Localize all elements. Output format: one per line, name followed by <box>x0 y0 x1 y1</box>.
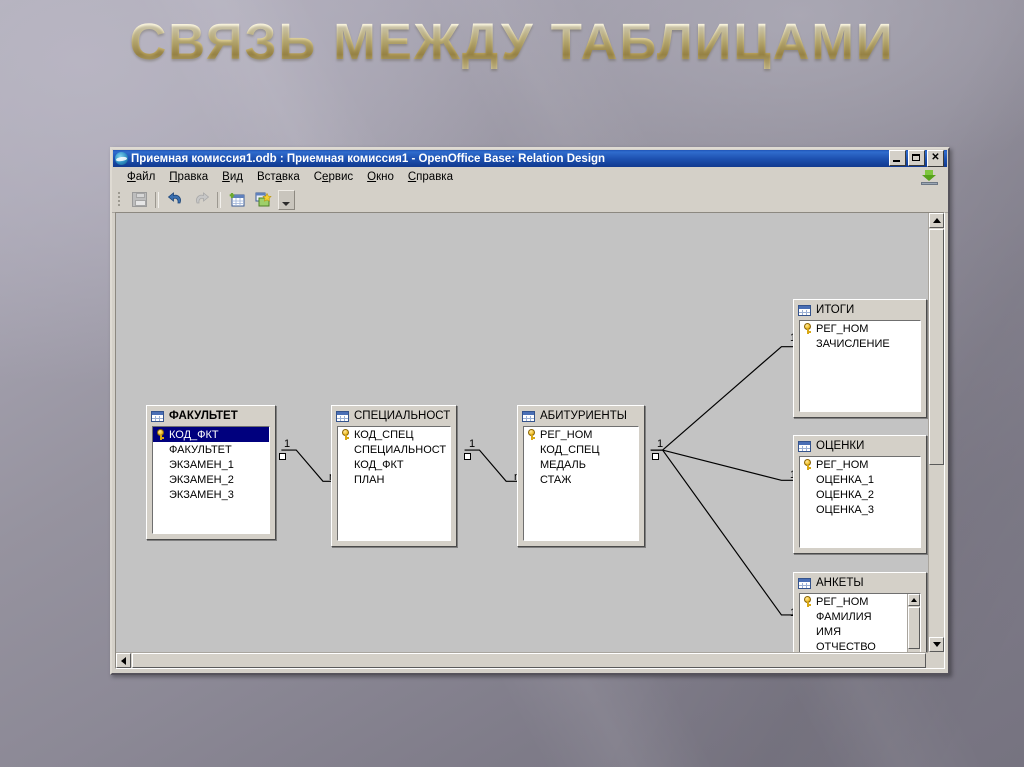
field-row[interactable]: РЕГ_НОМ <box>800 457 920 472</box>
table-header: ФАКУЛЬТЕТ <box>147 406 275 426</box>
field-label: ФАКУЛЬТЕТ <box>169 444 232 456</box>
minimize-button[interactable] <box>889 150 906 166</box>
maximize-button[interactable] <box>908 150 925 166</box>
save-button[interactable] <box>127 189 151 211</box>
field-icon-slot <box>340 459 351 470</box>
window-title: Приемная комиссия1.odb : Приемная комисс… <box>131 153 889 165</box>
field-label: ИМЯ <box>816 626 841 638</box>
redo-button[interactable] <box>189 189 213 211</box>
field-icon-slot <box>155 459 166 470</box>
undo-icon <box>167 192 184 207</box>
table-box-ocenki[interactable]: ОЦЕНКИ РЕГ_НОМ ОЦЕНКА_1 ОЦ <box>793 435 927 554</box>
toolbar-overflow-button[interactable] <box>277 189 295 211</box>
field-row[interactable]: ОЦЕНКА_1 <box>800 472 920 487</box>
table-field-viewport: РЕГ_НОМ ФАМИЛИЯ ИМЯ <box>800 594 907 652</box>
table-header: ИТОГИ <box>794 300 926 320</box>
field-icon-slot <box>340 444 351 455</box>
table-title: АНКЕТЫ <box>816 577 864 589</box>
table-icon <box>522 411 535 422</box>
table-box-abiturienty[interactable]: АБИТУРИЕНТЫ РЕГ_НОМ КОД_СПЕЦ <box>517 405 645 547</box>
field-label: РЕГ_НОМ <box>816 596 868 608</box>
field-icon-slot <box>802 338 813 349</box>
slide-root: СВЯЗЬ МЕЖДУ ТАБЛИЦАМИ Приемная комиссия1… <box>0 0 1024 767</box>
table-title: ОЦЕНКИ <box>816 440 864 452</box>
scroll-up-button[interactable] <box>908 594 920 606</box>
table-field-list[interactable]: РЕГ_НОМ ЗАЧИСЛЕНИЕ <box>799 320 921 412</box>
menu-file[interactable]: Файл <box>120 170 162 184</box>
field-row[interactable]: ОЦЕНКА_3 <box>800 502 920 517</box>
redo-icon <box>193 192 210 207</box>
window-controls: ✕ <box>889 150 945 167</box>
save-icon <box>132 192 147 207</box>
table-box-ankety[interactable]: АНКЕТЫ РЕГ_НОМ ФАМИЛИЯ <box>793 572 927 652</box>
field-row[interactable]: КОД_СПЕЦ <box>338 427 450 442</box>
field-label: СТАЖ <box>540 474 571 486</box>
scroll-thumb[interactable] <box>132 653 926 668</box>
cardinality-1: 1 <box>469 438 475 450</box>
relation-endpoint <box>279 453 286 460</box>
field-row[interactable]: ОТЧЕСТВО <box>800 639 907 652</box>
window-titlebar[interactable]: Приемная комиссия1.odb : Приемная комисс… <box>113 150 947 167</box>
toolbar-separator <box>155 192 159 208</box>
field-label: ОТЧЕСТВО <box>816 641 876 653</box>
table-field-list[interactable]: РЕГ_НОМ ОЦЕНКА_1 ОЦЕНКА_2 ОЦЕНКА_3 <box>799 456 921 548</box>
toolbar-grip[interactable] <box>116 191 123 209</box>
field-row[interactable]: ПЛАН <box>338 472 450 487</box>
field-icon-slot <box>340 474 351 485</box>
field-row[interactable]: РЕГ_НОМ <box>800 321 920 336</box>
field-icon-slot <box>526 444 537 455</box>
field-label: КОД_ФКТ <box>169 429 219 441</box>
field-row[interactable]: ЗАЧИСЛЕНИЕ <box>800 336 920 351</box>
field-label: ПЛАН <box>354 474 384 486</box>
page-title: СВЯЗЬ МЕЖДУ ТАБЛИЦАМИ <box>0 12 1024 71</box>
field-row[interactable]: РЕГ_НОМ <box>524 427 638 442</box>
field-row[interactable]: ФАМИЛИЯ <box>800 609 907 624</box>
chevron-down-icon <box>278 190 295 210</box>
scrollbar-corner <box>928 652 944 668</box>
field-label: КОД_ФКТ <box>354 459 404 471</box>
field-row[interactable]: СПЕЦИАЛЬНОСТ <box>338 442 450 457</box>
undo-button[interactable] <box>163 189 187 211</box>
scroll-thumb[interactable] <box>929 229 944 465</box>
field-row[interactable]: ЭКЗАМЕН_3 <box>153 487 269 502</box>
table-box-specialnost[interactable]: СПЕЦИАЛЬНОСТ КОД_СПЕЦ СПЕЦИАЛЬНОСТ <box>331 405 457 547</box>
relation-design-canvas-wrap: 1 n 1 n 1 1 1 1 ФАКУЛЬТ <box>115 212 945 669</box>
field-row[interactable]: СТАЖ <box>524 472 638 487</box>
table-box-fakultet[interactable]: ФАКУЛЬТЕТ КОД_ФКТ ФАКУЛЬТЕТ <box>146 405 276 540</box>
field-label: МЕДАЛЬ <box>540 459 586 471</box>
field-row[interactable]: РЕГ_НОМ <box>800 594 907 609</box>
menu-edit[interactable]: Правка <box>162 170 215 184</box>
table-header: ОЦЕНКИ <box>794 436 926 456</box>
menu-tools[interactable]: Сервис <box>307 170 360 184</box>
field-row[interactable]: ОЦЕНКА_2 <box>800 487 920 502</box>
primary-key-icon <box>802 459 813 470</box>
table-title: ФАКУЛЬТЕТ <box>169 410 238 422</box>
scroll-down-button[interactable] <box>929 637 944 652</box>
field-row[interactable]: МЕДАЛЬ <box>524 457 638 472</box>
field-label: ЭКЗАМЕН_1 <box>169 459 234 471</box>
relation-endpoint <box>464 453 471 460</box>
primary-key-icon <box>340 429 351 440</box>
base-document-icon <box>115 152 128 165</box>
table-field-list[interactable]: КОД_ФКТ ФАКУЛЬТЕТ ЭКЗАМЕН_1 ЭКЗАМЕН <box>152 426 270 534</box>
field-row[interactable]: ИМЯ <box>800 624 907 639</box>
field-icon-slot <box>802 641 813 652</box>
table-title: АБИТУРИЕНТЫ <box>540 410 627 422</box>
relation-endpoint <box>652 453 659 460</box>
table-icon <box>336 411 349 422</box>
add-table-button[interactable] <box>225 189 249 211</box>
openoffice-base-window: Приемная комиссия1.odb : Приемная комисс… <box>110 147 950 675</box>
field-label: ЭКЗАМЕН_3 <box>169 489 234 501</box>
field-icon-slot <box>802 474 813 485</box>
field-label: РЕГ_НОМ <box>816 459 868 471</box>
table-icon <box>798 441 811 452</box>
primary-key-icon <box>802 596 813 607</box>
table-header: СПЕЦИАЛЬНОСТ <box>332 406 456 426</box>
field-label: РЕГ_НОМ <box>816 323 868 335</box>
field-icon-slot <box>155 474 166 485</box>
table-icon <box>151 411 164 422</box>
table-vertical-scrollbar[interactable] <box>907 594 920 652</box>
field-icon-slot <box>526 474 537 485</box>
primary-key-icon <box>526 429 537 440</box>
field-label: СПЕЦИАЛЬНОСТ <box>354 444 446 456</box>
primary-key-icon <box>155 429 166 440</box>
relation-design-canvas[interactable]: 1 n 1 n 1 1 1 1 ФАКУЛЬТ <box>116 213 928 652</box>
field-icon-slot <box>802 489 813 500</box>
cardinality-1: 1 <box>284 438 290 450</box>
field-row[interactable]: КОД_СПЕЦ <box>524 442 638 457</box>
menu-window[interactable]: Окно <box>360 170 401 184</box>
field-icon-slot <box>802 611 813 622</box>
menubar: Файл Правка Вид Вставка Сервис Окно Спра… <box>112 167 948 187</box>
field-icon-slot <box>155 489 166 500</box>
field-row[interactable]: ФАКУЛЬТЕТ <box>153 442 269 457</box>
field-label: ОЦЕНКА_3 <box>816 504 874 516</box>
field-label: РЕГ_НОМ <box>540 429 592 441</box>
field-label: ОЦЕНКА_1 <box>816 474 874 486</box>
cardinality-1: 1 <box>657 438 663 450</box>
menu-view[interactable]: Вид <box>215 170 250 184</box>
toolbar <box>112 187 948 213</box>
scroll-up-button[interactable] <box>929 213 944 228</box>
field-label: КОД_СПЕЦ <box>540 444 600 456</box>
new-relation-icon <box>255 192 272 207</box>
primary-key-icon <box>802 323 813 334</box>
canvas-vertical-scrollbar[interactable] <box>928 213 944 652</box>
table-field-list[interactable]: РЕГ_НОМ КОД_СПЕЦ МЕДАЛЬ СТАЖ <box>523 426 639 541</box>
menu-help[interactable]: Справка <box>401 170 460 184</box>
field-icon-slot <box>155 444 166 455</box>
menu-insert[interactable]: Вставка <box>250 170 307 184</box>
table-title: СПЕЦИАЛЬНОСТ <box>354 410 450 422</box>
field-icon-slot <box>802 626 813 637</box>
field-label: ОЦЕНКА_2 <box>816 489 874 501</box>
table-icon <box>798 305 811 316</box>
field-icon-slot <box>526 459 537 470</box>
table-box-itogi[interactable]: ИТОГИ РЕГ_НОМ ЗАЧИСЛЕНИЕ <box>793 299 927 418</box>
scroll-left-button[interactable] <box>116 653 131 668</box>
field-label: ФАМИЛИЯ <box>816 611 872 623</box>
scroll-thumb[interactable] <box>908 607 920 649</box>
field-row[interactable]: ЭКЗАМЕН_1 <box>153 457 269 472</box>
table-field-list[interactable]: РЕГ_НОМ ФАМИЛИЯ ИМЯ <box>799 593 921 652</box>
table-field-list[interactable]: КОД_СПЕЦ СПЕЦИАЛЬНОСТ КОД_ФКТ ПЛАН <box>337 426 451 541</box>
field-row[interactable]: КОД_ФКТ <box>338 457 450 472</box>
download-arrow-icon[interactable] <box>920 169 940 185</box>
add-table-icon <box>229 192 246 207</box>
table-header: АБИТУРИЕНТЫ <box>518 406 644 426</box>
canvas-horizontal-scrollbar[interactable] <box>116 652 928 668</box>
table-icon <box>798 578 811 589</box>
field-label: ЭКЗАМЕН_2 <box>169 474 234 486</box>
field-icon-slot <box>802 504 813 515</box>
new-relation-button[interactable] <box>251 189 275 211</box>
toolbar-separator <box>217 192 221 208</box>
table-header: АНКЕТЫ <box>794 573 926 593</box>
table-title: ИТОГИ <box>816 304 854 316</box>
field-label: КОД_СПЕЦ <box>354 429 414 441</box>
field-row[interactable]: ЭКЗАМЕН_2 <box>153 472 269 487</box>
close-button[interactable]: ✕ <box>927 150 944 167</box>
field-label: ЗАЧИСЛЕНИЕ <box>816 338 890 350</box>
field-row[interactable]: КОД_ФКТ <box>153 427 269 442</box>
